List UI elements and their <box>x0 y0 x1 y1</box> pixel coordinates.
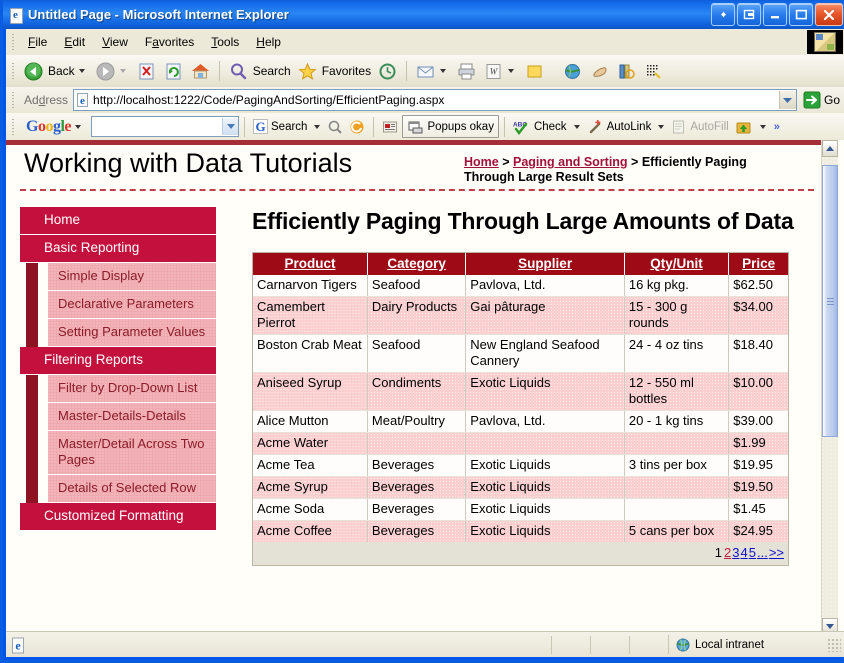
window-controls <box>711 3 843 26</box>
google-search-caret[interactable] <box>314 125 320 129</box>
column-header-product[interactable]: Product <box>253 253 367 275</box>
cell-product: Acme Tea <box>253 455 367 477</box>
sidebar-item-filtering-reports[interactable]: Filtering Reports <box>20 347 216 375</box>
menu-grip-handle[interactable] <box>10 33 17 51</box>
sidebar-item-master-details-details[interactable]: Master-Details-Details <box>48 403 216 431</box>
spell-check-label: Check <box>534 121 567 133</box>
spellcheck-icon: ABC <box>513 119 531 135</box>
forward-dropdown-caret <box>120 69 126 73</box>
cell-category: Dairy Products <box>367 297 465 335</box>
back-button[interactable]: Back <box>20 59 92 83</box>
status-pane-1 <box>551 636 590 654</box>
google-logo-caret[interactable] <box>75 125 81 129</box>
cell-category: Meat/Poultry <box>367 411 465 433</box>
toolbar-separator-2 <box>406 61 407 81</box>
bookshelf-icon <box>616 61 637 82</box>
svg-text:e: e <box>80 95 85 107</box>
breadcrumb: Home > Paging and Sorting > Efficiently … <box>464 155 800 185</box>
favorites-label: Favorites <box>322 64 371 78</box>
page-header: Working with Data Tutorials Home > Pagin… <box>20 145 814 191</box>
media-button[interactable] <box>613 59 640 83</box>
search-icon <box>228 61 249 82</box>
stop-button[interactable] <box>133 59 160 83</box>
popups-okay-label: Popups okay <box>427 121 494 133</box>
cell-qty-unit: 15 - 300 g rounds <box>624 297 728 335</box>
ie-animated-logo <box>807 30 843 54</box>
svg-text:G: G <box>255 119 265 134</box>
wand-sparkle-icon <box>587 119 604 135</box>
status-pane-2 <box>590 636 629 654</box>
google-search-dropdown[interactable] <box>222 118 238 135</box>
forward-button <box>92 59 133 83</box>
cell-category: Seafood <box>367 335 465 373</box>
breadcrumb-section-link[interactable]: Paging and Sorting <box>513 155 628 169</box>
sidebar-items: Home Basic Reporting Simple Display Decl… <box>20 207 216 531</box>
maximize-button[interactable] <box>789 3 813 26</box>
sidebar-item-home[interactable]: Home <box>20 207 216 235</box>
grid-body: Carnarvon Tigers Seafood Pavlova, Ltd. 1… <box>253 275 788 565</box>
pager-link-next[interactable]: >> <box>769 545 784 560</box>
notes-button[interactable] <box>521 59 548 83</box>
google-toolbar: Google G Search <box>6 113 844 141</box>
column-header-price-label: Price <box>742 256 775 271</box>
cell-product: Aniseed Syrup <box>253 373 367 411</box>
autofill-button: AutoFill <box>668 116 731 137</box>
sidebar-item-setting-parameter-values[interactable]: Setting Parameter Values <box>48 319 216 347</box>
cell-price: $24.95 <box>729 521 788 543</box>
web-page: Working with Data Tutorials Home > Pagin… <box>6 145 828 635</box>
page-title: Efficiently Paging Through Large Amounts… <box>252 207 810 235</box>
menu-item-help[interactable]: Help <box>248 32 289 53</box>
search-label: Search <box>253 64 291 78</box>
cell-supplier: Exotic Liquids <box>466 455 625 477</box>
table-row: Acme Syrup Beverages Exotic Liquids $19.… <box>253 477 788 499</box>
cell-qty-unit: 20 - 1 kg tins <box>624 411 728 433</box>
cell-category: Beverages <box>367 499 465 521</box>
resize-horizontal-button[interactable] <box>711 3 735 26</box>
column-header-qty-unit[interactable]: Qty/Unit <box>624 253 728 275</box>
status-page-icon: e <box>10 637 26 653</box>
table-row: Acme Coffee Beverages Exotic Liquids 5 c… <box>253 521 788 543</box>
scrollbar-thumb[interactable] <box>822 165 838 437</box>
pager-link-3[interactable]: 3 <box>732 545 739 560</box>
refresh-icon <box>163 61 184 82</box>
cell-qty-unit <box>624 433 728 455</box>
cell-product: Boston Crab Meat <box>253 335 367 373</box>
favorites-button[interactable]: Favorites <box>294 59 374 83</box>
pager-current-page: 1 <box>715 545 722 560</box>
page-viewport: Working with Data Tutorials Home > Pagin… <box>6 140 844 635</box>
restore-window-button[interactable] <box>737 3 761 26</box>
breadcrumb-separator-1: > <box>499 155 513 169</box>
table-row: Acme Water $1.99 <box>253 433 788 455</box>
cell-product: Acme Coffee <box>253 521 367 543</box>
menu-item-file[interactable]: File <box>20 32 55 53</box>
cell-price: $19.95 <box>729 455 788 477</box>
spell-check-button[interactable]: ABC Check <box>510 116 570 137</box>
cell-category <box>367 433 465 455</box>
ie-page-icon: e <box>8 7 24 23</box>
cell-product: Camembert Pierrot <box>253 297 367 335</box>
menu-item-favorites[interactable]: Favorites <box>137 32 202 53</box>
home-icon <box>190 61 211 82</box>
minimize-button[interactable] <box>763 3 787 26</box>
autolink-button[interactable]: AutoLink <box>584 116 655 137</box>
page-favicon-icon: e <box>76 93 90 107</box>
spell-check-caret[interactable] <box>574 125 580 129</box>
google-separator-1 <box>244 117 245 137</box>
popups-okay-button[interactable]: Popups okay <box>402 115 499 138</box>
sidebar-item-customized-formatting[interactable]: Customized Formatting <box>20 503 216 531</box>
popup-blocker-icon <box>407 119 424 135</box>
cell-qty-unit: 16 kg pkg. <box>624 275 728 297</box>
close-button[interactable] <box>815 3 843 26</box>
column-header-category-label: Category <box>387 256 446 271</box>
cell-price: $34.00 <box>729 297 788 335</box>
cell-product: Alice Mutton <box>253 411 367 433</box>
autofill-form-icon <box>671 119 687 135</box>
cell-category: Beverages <box>367 477 465 499</box>
cell-price: $19.50 <box>729 477 788 499</box>
cell-price: $1.99 <box>729 433 788 455</box>
history-clock-icon <box>377 61 398 82</box>
cell-price: $10.00 <box>729 373 788 411</box>
google-news-button[interactable] <box>379 116 402 137</box>
security-zone-indicator[interactable]: Local intranet <box>668 635 825 654</box>
table-row: Camembert Pierrot Dairy Products Gai pât… <box>253 297 788 335</box>
table-row: Aniseed Syrup Condiments Exotic Liquids … <box>253 373 788 411</box>
cell-supplier: Pavlova, Ltd. <box>466 275 625 297</box>
menu-item-tools[interactable]: Tools <box>203 32 247 53</box>
pager-link-4[interactable]: 4 <box>741 545 748 560</box>
column-header-price[interactable]: Price <box>729 253 788 275</box>
send-to-button[interactable] <box>732 116 756 137</box>
cell-supplier <box>466 433 625 455</box>
sidebar-nav: Home Basic Reporting Simple Display Decl… <box>20 207 216 531</box>
cell-supplier: Exotic Liquids <box>466 499 625 521</box>
pointer-hand-icon <box>589 61 610 82</box>
google-pagerank-button[interactable] <box>346 116 368 137</box>
mail-dropdown-caret[interactable] <box>440 69 446 73</box>
sidebar-item-master-detail-across-two-pages[interactable]: Master/Detail Across Two Pages <box>48 431 216 475</box>
cell-qty-unit: 24 - 4 oz tins <box>624 335 728 373</box>
pager-link-5[interactable]: 5 <box>749 545 756 560</box>
cell-category: Seafood <box>367 275 465 297</box>
grid-pager-row: 12345...>> <box>253 543 788 565</box>
cell-qty-unit: 12 - 550 ml bottles <box>624 373 728 411</box>
window-title: Untitled Page - Microsoft Internet Explo… <box>28 7 289 22</box>
cell-product: Carnarvon Tigers <box>253 275 367 297</box>
autofill-label: AutoFill <box>690 121 728 133</box>
google-logo: Google <box>26 118 71 136</box>
cell-supplier: Exotic Liquids <box>466 521 625 543</box>
back-arrow-icon <box>23 61 44 82</box>
column-header-product-label: Product <box>284 256 335 271</box>
google-site-search-button[interactable] <box>324 116 346 137</box>
google-separator-3 <box>504 117 505 137</box>
security-zone-label: Local intranet <box>695 639 764 651</box>
scroll-up-button[interactable] <box>822 140 838 157</box>
back-dropdown-caret[interactable] <box>79 69 85 73</box>
cell-category: Condiments <box>367 373 465 411</box>
table-row: Boston Crab Meat Seafood New England Sea… <box>253 335 788 373</box>
star-icon <box>297 61 318 82</box>
refresh-button[interactable] <box>160 59 187 83</box>
status-pane-3 <box>629 636 668 654</box>
printer-icon <box>456 61 477 82</box>
magnifier-page-icon <box>327 119 343 135</box>
products-grid-wrapper: Product Category Supplier Qty/Unit Price… <box>252 252 789 566</box>
google-g-icon: G <box>253 119 268 134</box>
site-title: Working with Data Tutorials <box>24 148 352 179</box>
browser-window: e Untitled Page - Microsoft Internet Exp… <box>0 0 844 663</box>
stop-icon <box>136 61 157 82</box>
sidebar-item-basic-reporting[interactable]: Basic Reporting <box>20 235 216 263</box>
sidebar-item-declarative-parameters[interactable]: Declarative Parameters <box>48 291 216 319</box>
home-button[interactable] <box>187 59 214 83</box>
cell-price: $18.40 <box>729 335 788 373</box>
cell-supplier: Pavlova, Ltd. <box>466 411 625 433</box>
sidebar-item-filter-by-drop-down-list[interactable]: Filter by Drop-Down List <box>48 375 216 403</box>
cell-supplier: Exotic Liquids <box>466 373 625 411</box>
address-grip-handle[interactable] <box>10 91 17 109</box>
vertical-scrollbar[interactable] <box>821 140 838 635</box>
toolbar-separator-1 <box>219 61 220 81</box>
column-header-supplier-label: Supplier <box>518 256 572 271</box>
sidebar-item-details-of-selected-row[interactable]: Details of Selected Row <box>48 475 216 503</box>
cell-qty-unit: 5 cans per box <box>624 521 728 543</box>
column-header-category[interactable]: Category <box>367 253 465 275</box>
cell-qty-unit <box>624 499 728 521</box>
print-button[interactable] <box>453 59 480 83</box>
autolink-label: AutoLink <box>607 121 652 133</box>
google-search-label: Search <box>271 121 307 133</box>
cell-product: Acme Syrup <box>253 477 367 499</box>
barcode-icon <box>643 61 664 82</box>
breadcrumb-separator-2: > <box>628 155 642 169</box>
history-button[interactable] <box>374 59 401 83</box>
menu-bar: File Edit View Favorites Tools Help <box>6 29 844 56</box>
page-content: Efficiently Paging Through Large Amounts… <box>252 207 810 566</box>
toolbar-grip-handle[interactable] <box>10 62 17 80</box>
resize-grip[interactable] <box>827 638 841 652</box>
cell-price: $1.45 <box>729 499 788 521</box>
table-row: Carnarvon Tigers Seafood Pavlova, Ltd. 1… <box>253 275 788 297</box>
back-label: Back <box>48 64 75 78</box>
local-intranet-globe-icon <box>675 637 691 653</box>
pager: 12345...>> <box>253 543 788 565</box>
table-row: Acme Soda Beverages Exotic Liquids $1.45 <box>253 499 788 521</box>
google-grip-handle[interactable] <box>10 118 17 136</box>
messenger-button[interactable] <box>559 59 586 83</box>
address-bar: Address e http://localhost:1222/Code/Pag… <box>6 87 844 114</box>
cell-supplier: Exotic Liquids <box>466 477 625 499</box>
pager-link-2[interactable]: 2 <box>724 545 731 560</box>
newspaper-icon <box>382 119 399 135</box>
edit-word-button[interactable]: W <box>480 59 521 83</box>
column-header-supplier[interactable]: Supplier <box>466 253 625 275</box>
pager-link-ellipsis[interactable]: ... <box>757 545 768 560</box>
cell-qty-unit: 3 tins per box <box>624 455 728 477</box>
go-arrow-icon <box>803 91 821 109</box>
cell-price: $62.50 <box>729 275 788 297</box>
table-row: Acme Tea Beverages Exotic Liquids 3 tins… <box>253 455 788 477</box>
go-label: Go <box>824 93 840 107</box>
upload-folder-icon <box>735 119 753 135</box>
word-document-icon: W <box>483 61 504 82</box>
products-grid: Product Category Supplier Qty/Unit Price… <box>253 253 788 565</box>
title-bar: e Untitled Page - Microsoft Internet Exp… <box>3 0 844 29</box>
google-separator-2 <box>373 117 374 137</box>
edit-dropdown-caret[interactable] <box>508 69 514 73</box>
status-bar: e Local intranet <box>6 631 844 657</box>
pagerank-swirl-icon <box>349 119 365 135</box>
table-row: Alice Mutton Meat/Poultry Pavlova, Ltd. … <box>253 411 788 433</box>
grid-header-row: Product Category Supplier Qty/Unit Price <box>253 253 788 275</box>
cell-supplier: New England Seafood Cannery <box>466 335 625 373</box>
go-button[interactable]: Go <box>803 91 840 109</box>
send-to-caret[interactable] <box>760 125 766 129</box>
cell-product: Acme Soda <box>253 499 367 521</box>
cell-price: $39.00 <box>729 411 788 433</box>
cell-category: Beverages <box>367 521 465 543</box>
search-button[interactable]: Search <box>225 59 294 83</box>
menu-items: File Edit View Favorites Tools Help <box>20 32 289 53</box>
sidebar-item-simple-display[interactable]: Simple Display <box>48 263 216 291</box>
google-search-input[interactable] <box>91 116 239 137</box>
forward-arrow-icon <box>95 61 116 82</box>
google-overflow-button[interactable]: » <box>774 121 780 133</box>
address-dropdown-button[interactable] <box>779 91 796 109</box>
menu-item-edit[interactable]: Edit <box>56 32 93 53</box>
google-search-button[interactable]: G Search <box>250 116 310 137</box>
cell-qty-unit <box>624 477 728 499</box>
cell-category: Beverages <box>367 455 465 477</box>
column-header-qty-unit-label: Qty/Unit <box>650 256 703 271</box>
address-label: Address <box>24 93 68 107</box>
svg-text:e: e <box>15 638 21 652</box>
research-button[interactable] <box>586 59 613 83</box>
barcode-button[interactable] <box>640 59 667 83</box>
cell-product: Acme Water <box>253 433 367 455</box>
autolink-caret[interactable] <box>658 125 664 129</box>
mail-button[interactable] <box>412 59 453 83</box>
globe-icon <box>562 61 583 82</box>
mail-icon <box>415 61 436 82</box>
sticky-note-icon <box>524 61 545 82</box>
address-input[interactable]: e http://localhost:1222/Code/PagingAndSo… <box>73 89 797 111</box>
breadcrumb-home-link[interactable]: Home <box>464 155 499 169</box>
menu-item-view[interactable]: View <box>94 32 136 53</box>
standard-toolbar: Back <box>6 55 844 88</box>
cell-supplier: Gai pâturage <box>466 297 625 335</box>
address-url-text: http://localhost:1222/Code/PagingAndSort… <box>93 93 779 107</box>
